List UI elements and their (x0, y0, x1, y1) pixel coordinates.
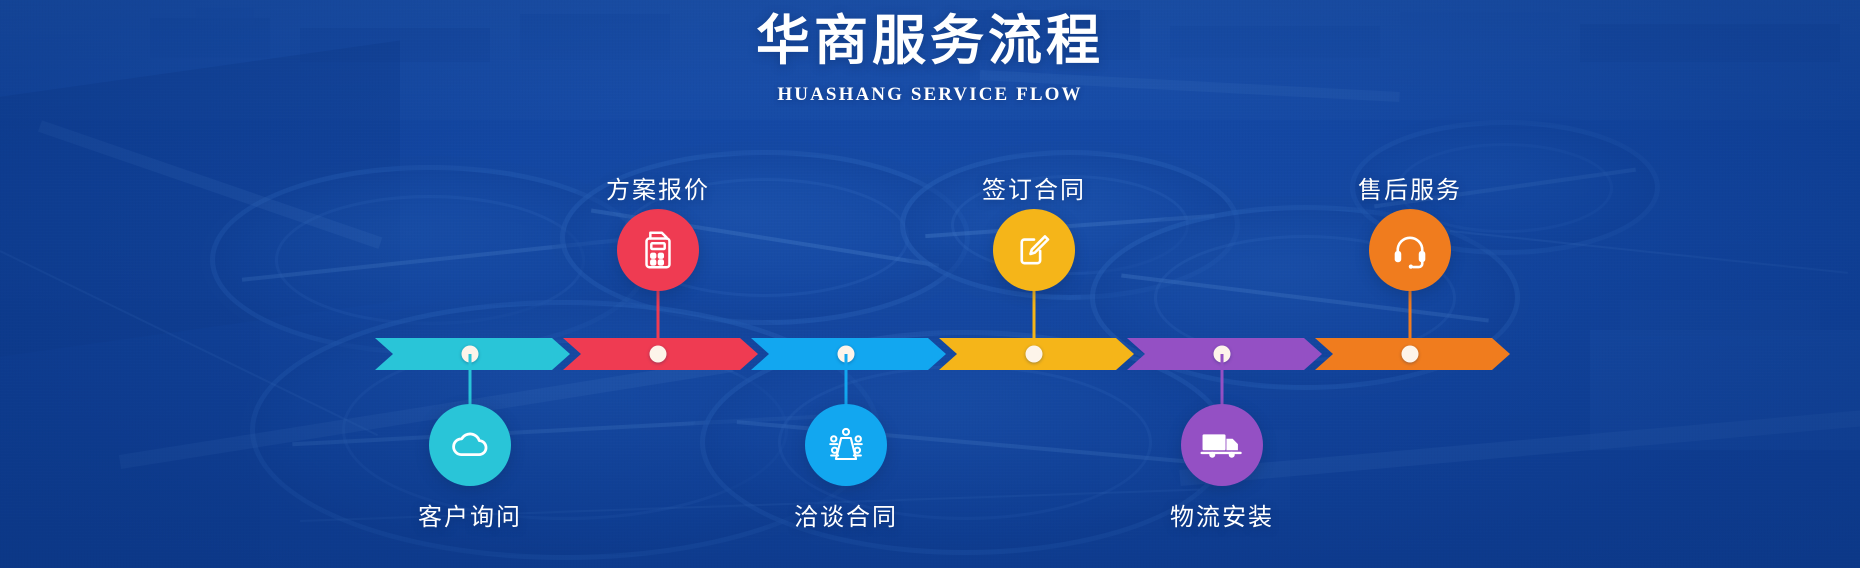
flow-node-4-sign[interactable] (993, 209, 1075, 291)
flow-label-4: 签订合同 (982, 170, 1086, 205)
cloud-icon (449, 424, 491, 466)
flow-stem-2 (657, 285, 660, 345)
flow-label-3: 洽谈合同 (794, 497, 898, 532)
flow-stem-6 (1409, 285, 1412, 345)
page-subtitle: HUASHANG SERVICE FLOW (0, 84, 1860, 106)
calculator-receipt-icon (638, 228, 678, 272)
flow-label-2: 方案报价 (606, 170, 710, 205)
flow-node-dot-2 (650, 346, 667, 363)
page-title: 华商服务流程 (0, 12, 1860, 70)
flow-node-3-meeting[interactable] (805, 404, 887, 486)
banner-heading: 华商服务流程 HUASHANG SERVICE FLOW (0, 12, 1860, 106)
flow-node-6-support[interactable] (1369, 209, 1451, 291)
meeting-table-icon (825, 424, 867, 466)
flow-label-1: 客户询问 (418, 497, 522, 532)
headset-icon (1389, 229, 1431, 271)
sign-pen-icon (1013, 229, 1055, 271)
flow-label-5: 物流安装 (1170, 497, 1274, 532)
truck-icon (1199, 426, 1245, 464)
flow-stem-4 (1033, 285, 1036, 345)
flow-node-1-cloud[interactable] (429, 404, 511, 486)
flow-node-dot-4 (1026, 346, 1043, 363)
flow-node-5-truck[interactable] (1181, 404, 1263, 486)
flow-node-dot-6 (1402, 346, 1419, 363)
flow-node-2-quote[interactable] (617, 209, 699, 291)
flow-label-6: 售后服务 (1358, 170, 1462, 205)
service-flow-banner: 华商服务流程 HUASHANG SERVICE FLOW (0, 0, 1860, 568)
